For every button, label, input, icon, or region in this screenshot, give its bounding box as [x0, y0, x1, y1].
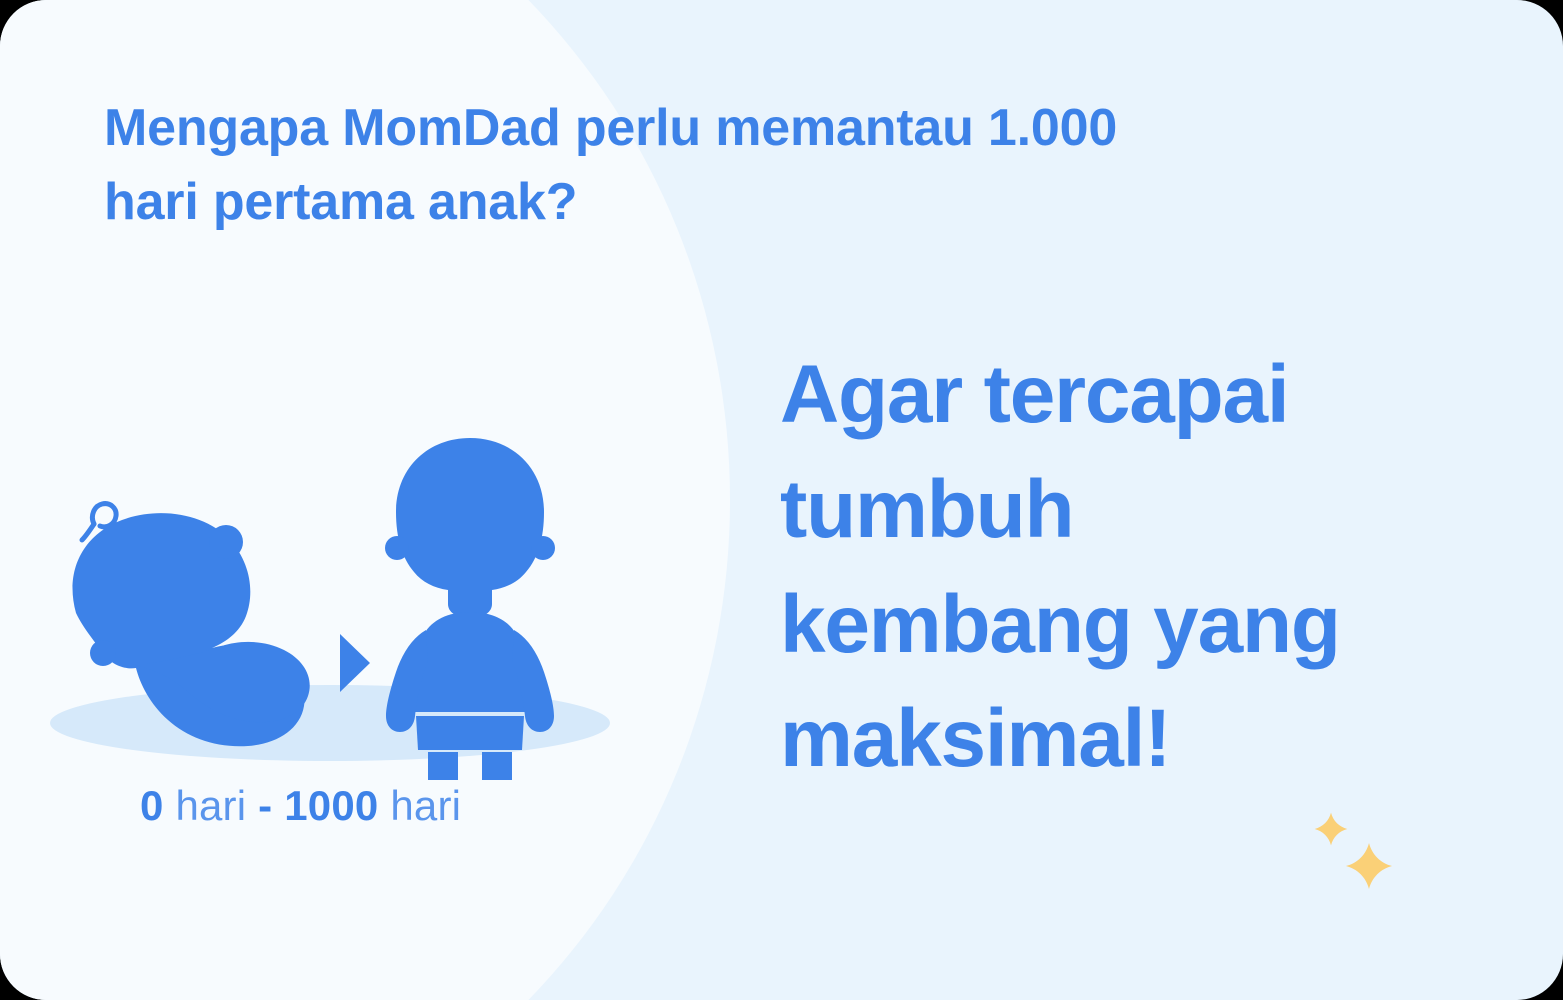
headline-answer: Agar tercapai tumbuh kembang yang maksim… [780, 338, 1480, 797]
sparkle-icon [1346, 843, 1392, 889]
sparkle-icon [1315, 813, 1348, 846]
sparkle-small [1314, 812, 1348, 846]
info-card: Mengapa MomDad perlu memantau 1.000 hari… [0, 0, 1563, 1000]
page-title: Mengapa MomDad perlu memantau 1.000 hari… [104, 92, 1504, 240]
growth-arrow [340, 634, 370, 692]
caption-separator: - [258, 782, 272, 829]
caption-start-value: 0 [140, 782, 164, 829]
caption-end-unit: hari [390, 782, 461, 829]
caption-start-unit: hari [175, 782, 246, 829]
sparkle-large [1345, 842, 1393, 890]
caption-end-value: 1000 [284, 782, 378, 829]
growth-illustration [40, 420, 660, 780]
timeline-caption: 0 hari - 1000 hari [140, 782, 461, 830]
